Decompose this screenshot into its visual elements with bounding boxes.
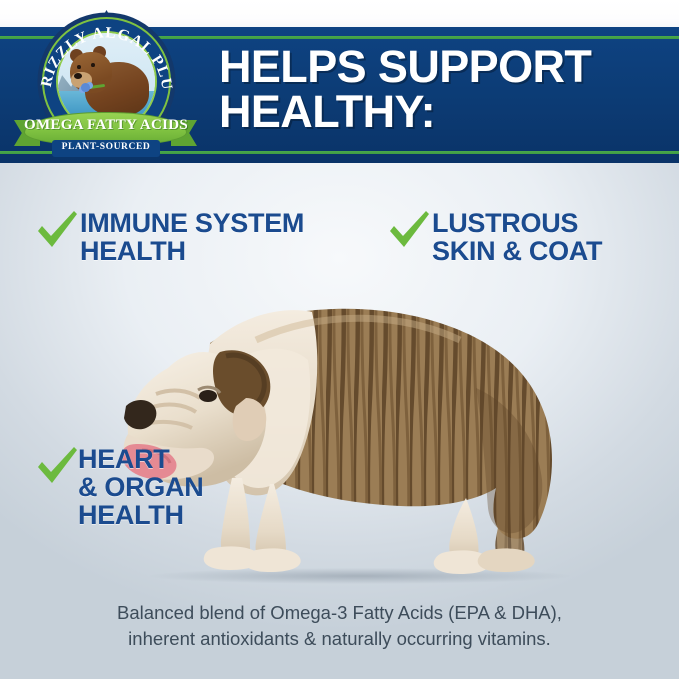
benefit-label: IMMUNE SYSTEM HEALTH: [80, 209, 380, 265]
benefit-label: LUSTROUS SKIN & COAT: [432, 209, 679, 265]
page-title: HELPS SUPPORT HEALTHY:: [219, 44, 659, 134]
footer-description: Balanced blend of Omega-3 Fatty Acids (E…: [40, 600, 639, 652]
green-check-icon: [34, 443, 80, 489]
svg-text:GRIZZLY ALGAL PLUS: GRIZZLY ALGAL PLUS: [35, 10, 176, 92]
green-check-icon: [386, 207, 432, 253]
sub-ribbon-label: PLANT-SOURCED: [52, 142, 160, 152]
badge-ribbon: OMEGA FATTY ACIDS PLANT-SOURCED: [12, 112, 199, 154]
benefit-label: HEART & ORGAN HEALTH: [78, 445, 328, 529]
english-bulldog-photo: [60, 248, 630, 588]
ribbon-label: OMEGA FATTY ACIDS: [24, 117, 187, 134]
brand-badge: GRIZZLY ALGAL PLUS OMEGA FATTY ACIDS PLA…: [12, 6, 199, 176]
green-check-icon: [34, 207, 80, 253]
product-marketing-image: HELPS SUPPORT HEALTHY:: [0, 0, 679, 679]
badge-arc-label: GRIZZLY ALGAL PLUS: [35, 10, 176, 92]
